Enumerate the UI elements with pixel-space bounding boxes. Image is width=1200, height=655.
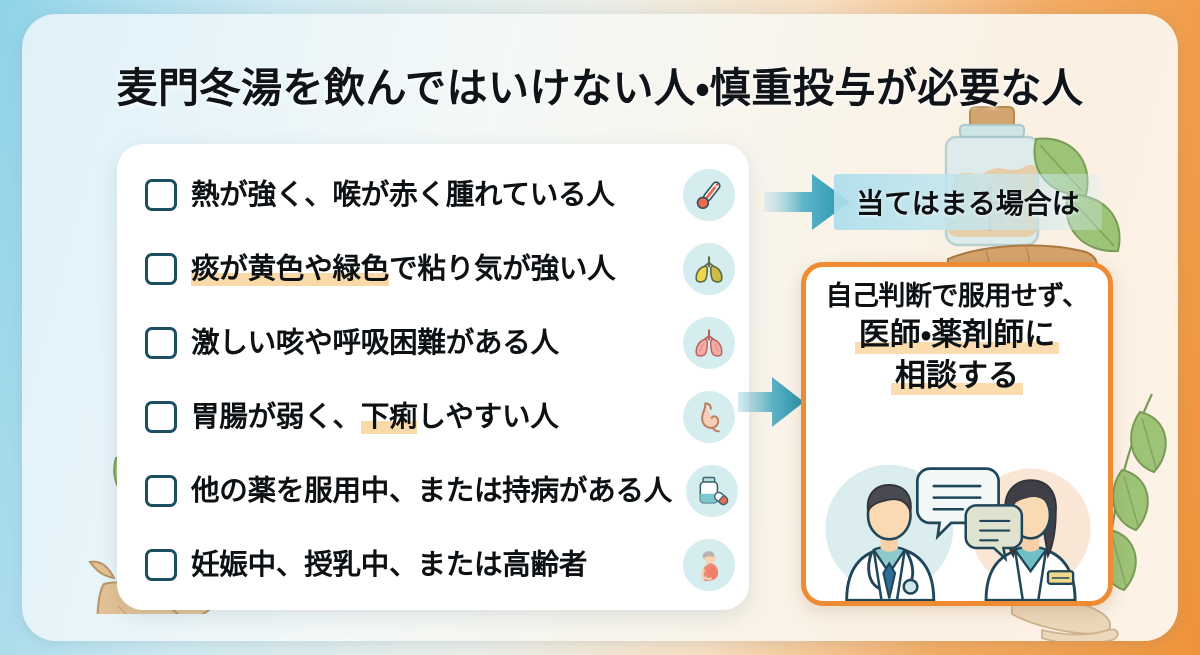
checkbox-3[interactable] (145, 327, 177, 359)
checklist-label-5: 他の薬を服用中、または持病がある人 (191, 475, 672, 508)
arrow-right-icon-bottom (736, 374, 806, 430)
lungs-yellow-icon (683, 243, 735, 295)
checklist-row-1[interactable]: 熱が強く、喉が赤く腫れている人 (117, 158, 749, 232)
checkbox-2[interactable] (145, 253, 177, 285)
checkbox-6[interactable] (145, 549, 177, 581)
checklist-label-2: 痰が黄色や緑色で粘り気が強い人 (191, 253, 669, 286)
thermometer-icon (683, 169, 735, 221)
checklist-label-3: 激しい咳や呼吸困難がある人 (191, 327, 669, 360)
lungs-pink-icon (683, 317, 735, 369)
checkbox-4[interactable] (145, 401, 177, 433)
apply-banner: 当てはまる場合は (834, 174, 1102, 230)
advice-text: 自己判断で服用せず、 医師・薬剤師に 相談する (806, 267, 1108, 396)
advice-line-3: 相談する (812, 358, 1102, 396)
pregnant-woman-icon (683, 539, 735, 591)
checklist-card: 熱が強く、喉が赤く腫れている人 痰が黄色や緑色で粘り気が強い人 (117, 144, 749, 610)
stomach-icon (683, 391, 735, 443)
medicine-bottle-icon (686, 465, 738, 517)
checklist-row-5[interactable]: 他の薬を服用中、または持病がある人 (117, 454, 749, 528)
checklist-row-4[interactable]: 胃腸が弱く、下痢しやすい人 (117, 380, 749, 454)
checkbox-1[interactable] (145, 179, 177, 211)
checklist-label-6: 妊娠中、授乳中、または高齢者 (191, 549, 669, 582)
doctor-and-pharmacist-illustration (806, 433, 1108, 603)
inner-frame: 麦門冬湯を飲んではいけない人・慎重投与が必要な人 熱が強く、喉が赤く腫れている人 (22, 14, 1178, 641)
checklist-row-3[interactable]: 激しい咳や呼吸困難がある人 (117, 306, 749, 380)
checklist-row-2[interactable]: 痰が黄色や緑色で粘り気が強い人 (117, 232, 749, 306)
advice-line-1: 自己判断で服用せず、 (812, 281, 1102, 314)
advice-line-2: 医師・薬剤師に (812, 317, 1102, 355)
checkbox-5[interactable] (145, 475, 177, 507)
infographic-canvas: 麦門冬湯を飲んではいけない人・慎重投与が必要な人 熱が強く、喉が赤く腫れている人 (0, 0, 1200, 655)
checklist-label-1: 熱が強く、喉が赤く腫れている人 (191, 179, 669, 212)
advice-card: 自己判断で服用せず、 医師・薬剤師に 相談する (801, 262, 1113, 606)
page-title: 麦門冬湯を飲んではいけない人・慎重投与が必要な人 (22, 54, 1178, 114)
checklist-row-6[interactable]: 妊娠中、授乳中、または高齢者 (117, 528, 749, 602)
checklist-label-4: 胃腸が弱く、下痢しやすい人 (191, 401, 669, 434)
apply-banner-label: 当てはまる場合は (856, 182, 1079, 222)
